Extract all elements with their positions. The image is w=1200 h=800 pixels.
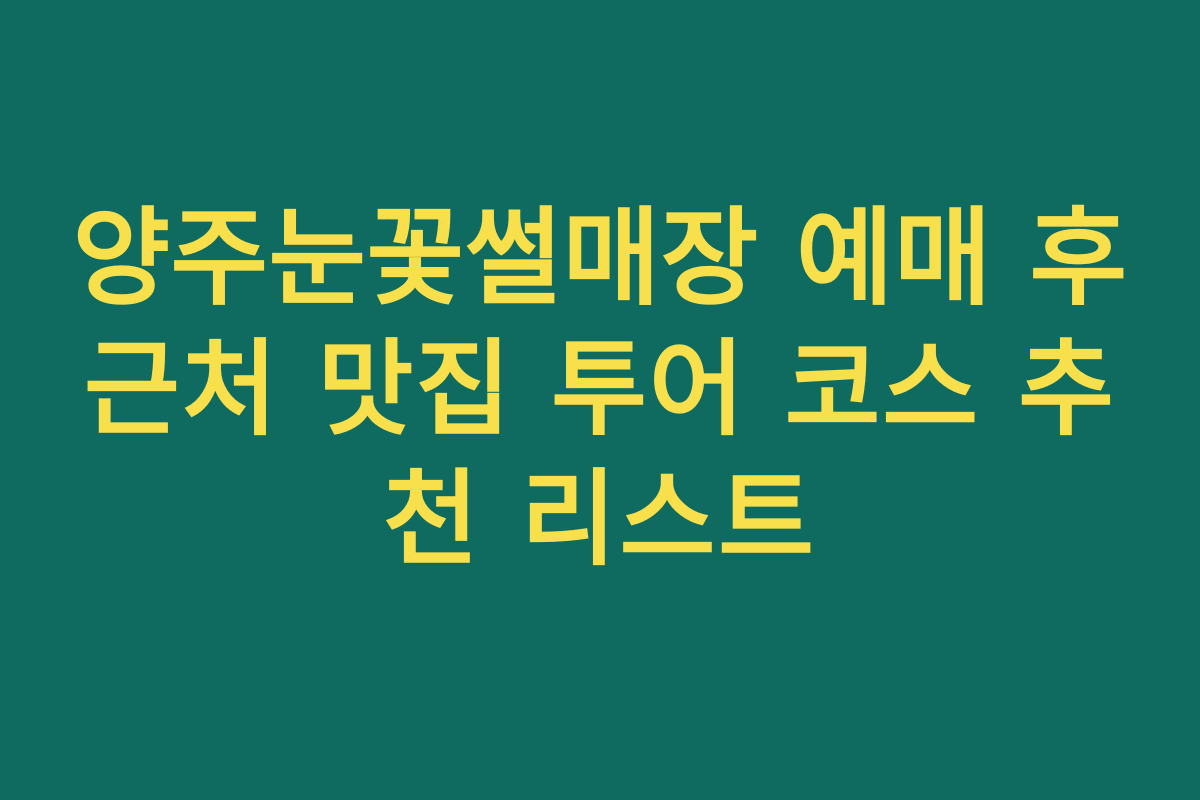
thumbnail-banner: 양주눈꽃썰매장 예매 후 근처 맛집 투어 코스 추 천 리스트 [0,0,1200,800]
banner-title: 양주눈꽃썰매장 예매 후 근처 맛집 투어 코스 추 천 리스트 [70,194,1130,584]
banner-title-line-2: 근처 맛집 투어 코스 추 [70,324,1130,454]
banner-title-line-1: 양주눈꽃썰매장 예매 후 [70,194,1130,324]
banner-title-line-3: 천 리스트 [70,454,1130,584]
